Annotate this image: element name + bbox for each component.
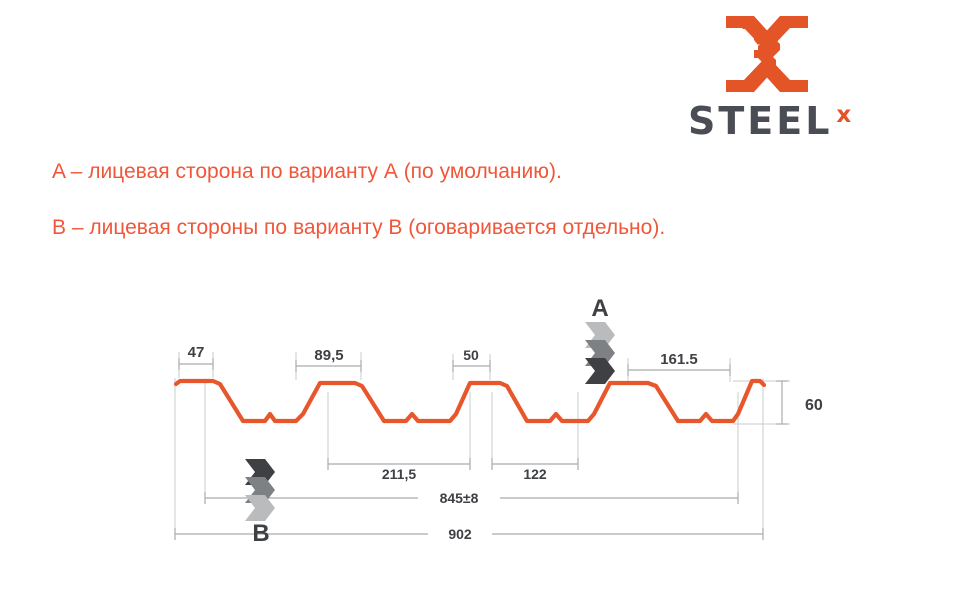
dim-label-211-5: 211,5: [382, 466, 416, 482]
dim-label-902: 902: [448, 526, 472, 542]
profile-technical-drawing: A B 47 89,5 50 161.5 60 211,5 122 845±8 …: [0, 0, 970, 597]
dim-label-50: 50: [463, 347, 479, 363]
height-dimension-line: [776, 381, 788, 424]
marker-b-label: B: [252, 520, 269, 547]
dim-label-122: 122: [523, 466, 547, 482]
dim-label-845: 845±8: [440, 490, 479, 506]
top-dimension-lines: [179, 358, 730, 376]
marker-a-label: A: [591, 295, 608, 322]
dim-label-47: 47: [188, 344, 205, 361]
dim-label-161-5: 161.5: [660, 351, 698, 368]
dim-label-89-5: 89,5: [314, 347, 343, 364]
dim-label-60: 60: [805, 397, 823, 414]
marker-a: A: [585, 295, 615, 384]
